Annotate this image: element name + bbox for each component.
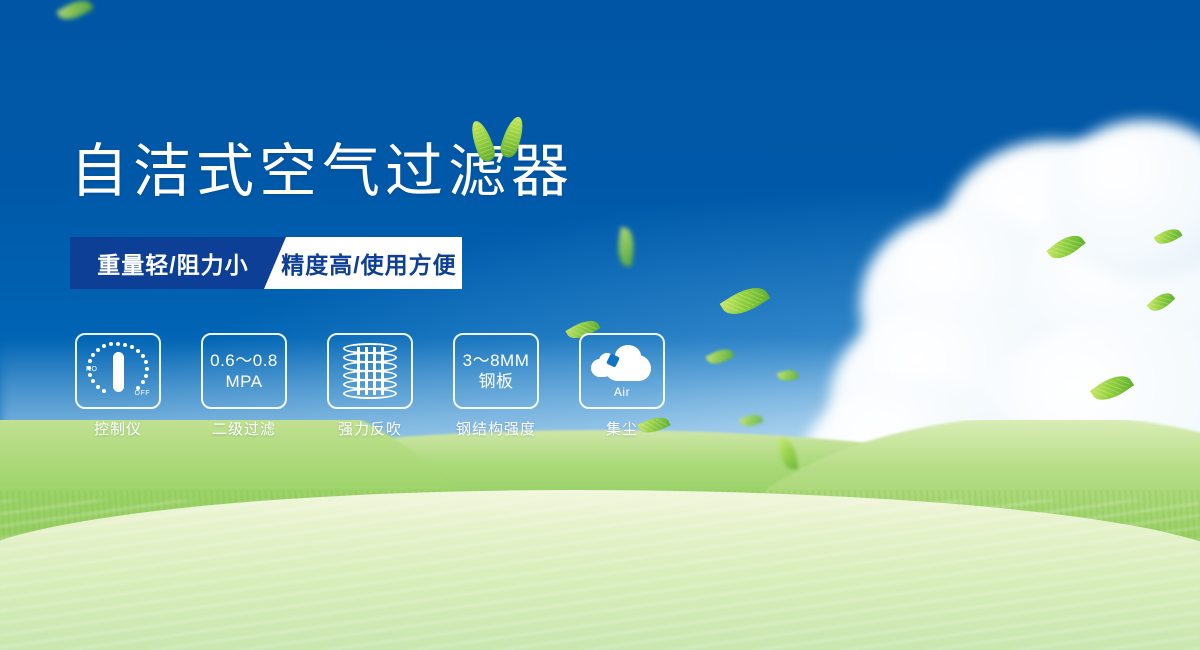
subtitle-left-text: 重量轻/阻力小 [97, 246, 258, 280]
feature-list: NO OFF 控制仪 0.6～0.8 MPA 二级过滤 [70, 333, 670, 439]
feature-icon-box: NO OFF [75, 333, 161, 409]
feature-item-dust-collection[interactable]: Air 集尘 [574, 333, 670, 439]
feature-label: 控制仪 [94, 418, 142, 439]
subtitle-bar: 重量轻/阻力小 精度高/使用方便 [70, 237, 462, 289]
meadow-streaks [0, 500, 1200, 650]
feature-item-steel-strength[interactable]: 3～8MM 钢板 钢结构强度 [448, 333, 544, 439]
feature-item-secondary-filter[interactable]: 0.6～0.8 MPA 二级过滤 [196, 333, 292, 439]
pressure-value-line2: MPA [225, 371, 262, 392]
feature-label: 二级过滤 [212, 418, 276, 439]
product-hero-banner: 自洁式空气过滤器 重量轻/阻力小 精度高/使用方便 [0, 0, 1200, 650]
feature-item-controller[interactable]: NO OFF 控制仪 [70, 333, 166, 439]
subtitle-right-segment: 精度高/使用方便 [264, 237, 462, 289]
steel-value-line2: 钢板 [479, 371, 514, 392]
gauge-icon: NO OFF [87, 342, 149, 400]
grass-field [0, 420, 1200, 650]
cloud-air-icon [591, 343, 653, 383]
steel-value-line1: 3～8MM [463, 350, 530, 371]
title-sprout-leaves-icon [470, 112, 540, 168]
feature-icon-box: 0.6～0.8 MPA [201, 333, 287, 409]
subtitle-left-segment: 重量轻/阻力小 [70, 237, 286, 289]
pressure-value-line1: 0.6～0.8 [210, 350, 278, 371]
feature-item-backblow[interactable]: 强力反吹 [322, 333, 418, 439]
feature-icon-box: 3～8MM 钢板 [453, 333, 539, 409]
air-label: Air [614, 385, 630, 399]
feature-label: 强力反吹 [338, 418, 402, 439]
filter-stack-icon [343, 343, 397, 399]
feature-label: 集尘 [606, 418, 638, 439]
gauge-on-label: NO [86, 366, 98, 373]
feature-label: 钢结构强度 [456, 418, 536, 439]
gauge-off-label: OFF [135, 390, 151, 397]
feature-icon-box [327, 333, 413, 409]
gauge-needle [113, 352, 124, 392]
subtitle-right-text: 精度高/使用方便 [269, 246, 456, 280]
feature-icon-box: Air [579, 333, 665, 409]
